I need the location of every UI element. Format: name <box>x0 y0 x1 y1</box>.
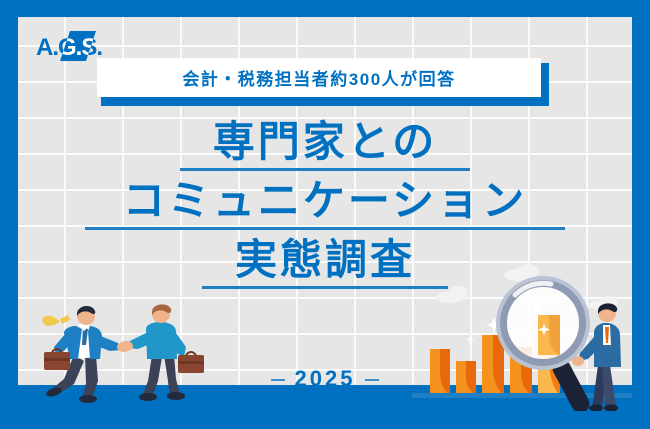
title-underline-3 <box>202 286 448 289</box>
title-underline-1 <box>180 168 470 171</box>
title-line-3: 実態調査 <box>36 239 614 281</box>
handshake-illustration <box>30 299 216 411</box>
eyecatch-banner: A.G.S. A.G.S. A.G.S. 会計・税務担当者約300人が回答 <box>0 0 650 429</box>
subtitle-banner: 会計・税務担当者約300人が回答 <box>97 58 549 106</box>
title-underline-2 <box>85 227 565 230</box>
page-title: 専門家との コミュニケーション 実態調査 <box>36 121 614 298</box>
banner-white-box: 会計・税務担当者約300人が回答 <box>97 58 541 97</box>
year-label: 2025 <box>36 366 614 392</box>
year-dash-left <box>271 379 285 381</box>
title-line-2: コミュニケーション <box>36 180 614 222</box>
year-value: 2025 <box>295 366 356 391</box>
banner-text: 会計・税務担当者約300人が回答 <box>182 65 455 90</box>
year-dash-right <box>365 379 379 381</box>
content-panel: A.G.S. A.G.S. A.G.S. 会計・税務担当者約300人が回答 <box>18 17 632 411</box>
title-line-1: 専門家との <box>36 121 614 163</box>
